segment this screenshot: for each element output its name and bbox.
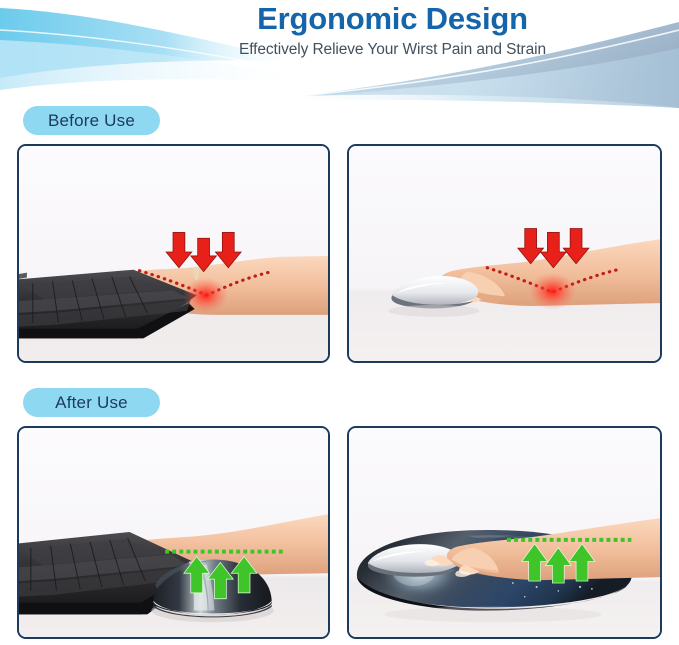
photo-mousepad-with-wrist-rest <box>347 426 662 639</box>
photo-keyboard-without-wrist-rest <box>17 144 330 363</box>
section-label-after-use: After Use <box>23 388 160 417</box>
illustration-mousepad-supported <box>349 428 660 637</box>
illustration-keyboard-supported <box>19 428 328 637</box>
pain-hotspot <box>529 273 576 310</box>
pain-hotspot <box>183 278 228 313</box>
illustration-keyboard-strain <box>19 146 328 361</box>
pressure-arrows-down <box>166 232 241 271</box>
support-arrows-up <box>522 544 595 583</box>
photo-keyboard-with-wrist-rest <box>17 426 330 639</box>
infographic-page: Ergonomic Design Effectively Relieve You… <box>0 0 679 645</box>
support-arrows-up <box>184 557 257 599</box>
illustration-mouse-strain <box>349 146 660 361</box>
header-banner: Ergonomic Design Effectively Relieve You… <box>0 0 679 108</box>
page-subtitle: Effectively Relieve Your Wirst Pain and … <box>0 40 679 60</box>
section-label-before-use: Before Use <box>23 106 160 135</box>
page-title: Ergonomic Design <box>0 2 679 36</box>
photo-mouse-without-wrist-rest <box>347 144 662 363</box>
